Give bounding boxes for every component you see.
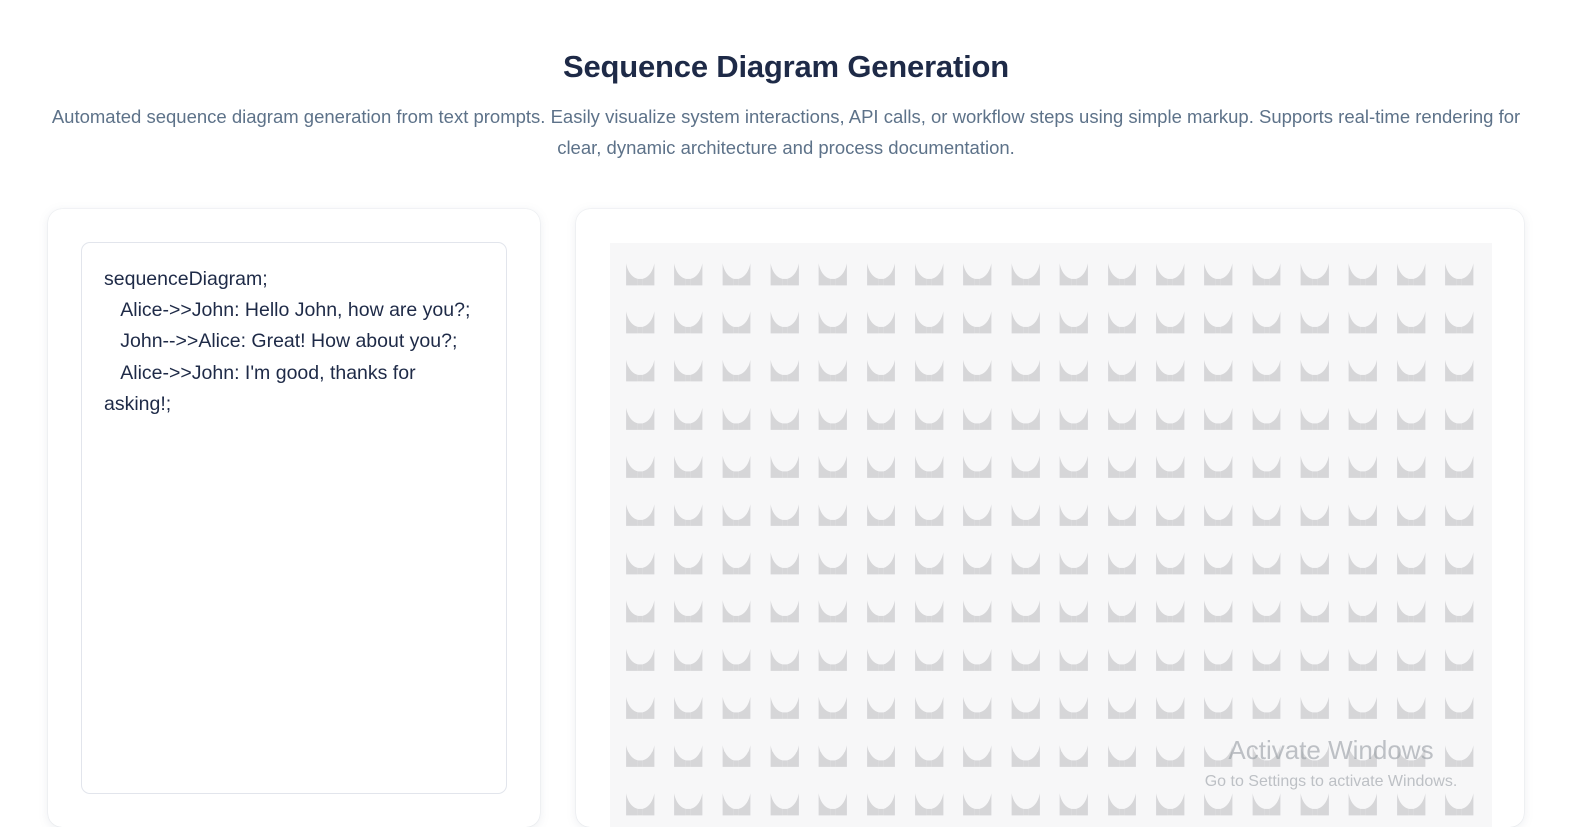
- diagram-preview-surface[interactable]: [610, 243, 1492, 827]
- page-title: Sequence Diagram Generation: [4, 48, 1568, 87]
- diagram-code-input[interactable]: [81, 242, 507, 794]
- page-shell: Sequence Diagram Generation Automated se…: [4, 4, 1568, 827]
- panels-container: [4, 209, 1568, 827]
- page-header: Sequence Diagram Generation Automated se…: [4, 4, 1568, 163]
- mermaid-logo-icon: [610, 243, 1492, 827]
- editor-card: [48, 209, 540, 827]
- page-subtitle: Automated sequence diagram generation fr…: [41, 101, 1531, 163]
- diagram-preview-card: [576, 209, 1524, 827]
